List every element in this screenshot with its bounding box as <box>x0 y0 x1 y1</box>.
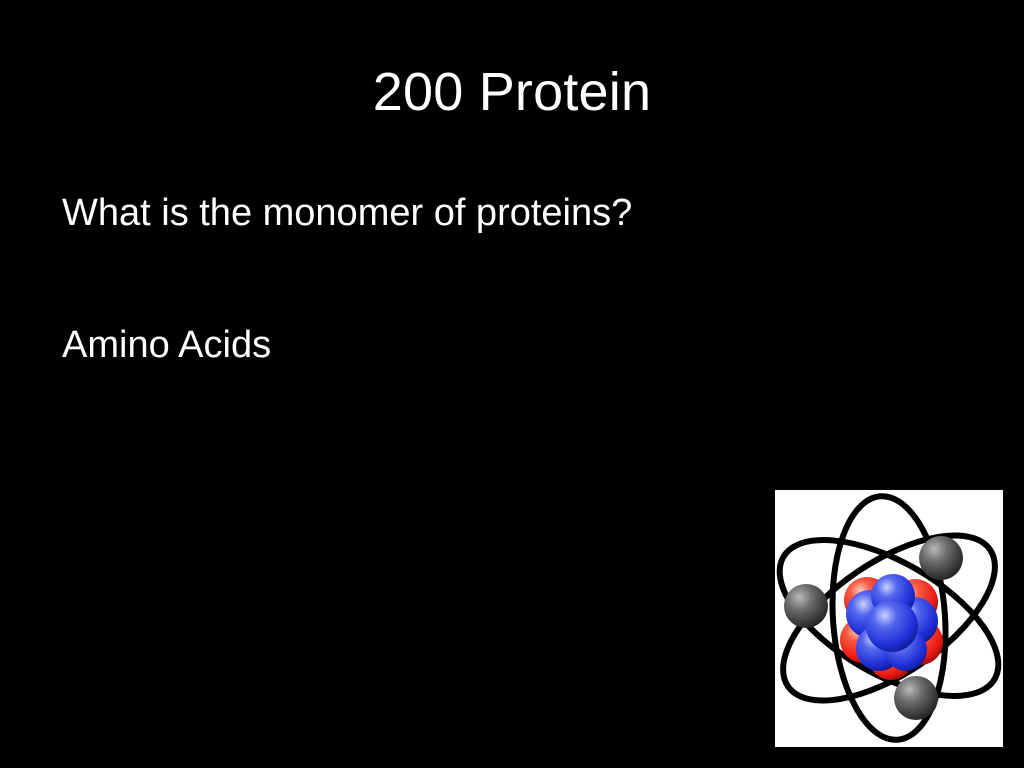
answer-text: Amino Acids <box>62 322 271 368</box>
question-text: What is the monomer of proteins? <box>62 190 632 236</box>
atom-diagram-image <box>775 490 1003 747</box>
electron <box>784 584 828 628</box>
neutron <box>866 600 918 652</box>
electron <box>894 676 938 720</box>
electron <box>919 536 963 580</box>
page-title: 200 Protein <box>0 60 1024 124</box>
slide-canvas: 200 Protein What is the monomer of prote… <box>0 0 1024 768</box>
atom-icon <box>775 490 1003 747</box>
